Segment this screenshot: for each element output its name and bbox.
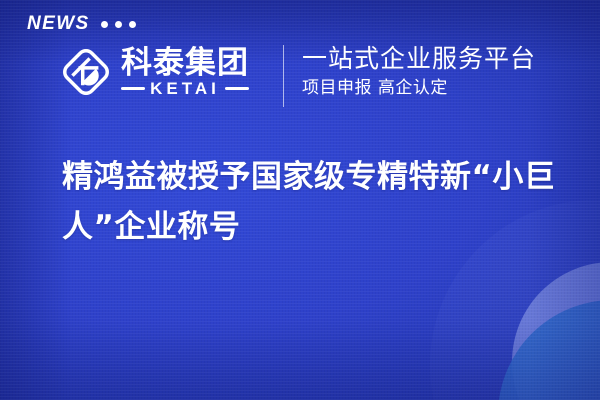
brand-name-en: KETAI bbox=[150, 80, 220, 97]
brand-wordmark: 科泰集团 KETAI bbox=[121, 47, 249, 98]
brand-name-cn: 科泰集团 bbox=[121, 47, 249, 80]
brand-rule-left bbox=[121, 87, 145, 90]
news-eyebrow: NEWS bbox=[27, 14, 136, 33]
news-dot-icon bbox=[115, 21, 122, 28]
brand-rule-right bbox=[225, 87, 249, 90]
brand-tagline: 一站式企业服务平台 项目申报 高企认定 bbox=[302, 44, 536, 98]
ketai-diamond-kd-logo-icon bbox=[57, 43, 115, 101]
tagline-main: 一站式企业服务平台 bbox=[302, 44, 536, 74]
news-banner: NEWS 科泰集团 bbox=[0, 0, 600, 400]
brand-name-en-row: KETAI bbox=[121, 80, 249, 97]
news-dots-icon bbox=[101, 21, 136, 28]
brand-divider bbox=[283, 45, 284, 107]
headline-title: 精鸿益被授予国家级专精特新“小巨人”企业称号 bbox=[62, 152, 562, 252]
news-dot-icon bbox=[101, 21, 108, 28]
news-dot-icon bbox=[129, 21, 136, 28]
brand-lockup: 科泰集团 KETAI bbox=[57, 43, 249, 101]
tagline-sub: 项目申报 高企认定 bbox=[302, 78, 536, 98]
news-label: NEWS bbox=[27, 14, 90, 33]
